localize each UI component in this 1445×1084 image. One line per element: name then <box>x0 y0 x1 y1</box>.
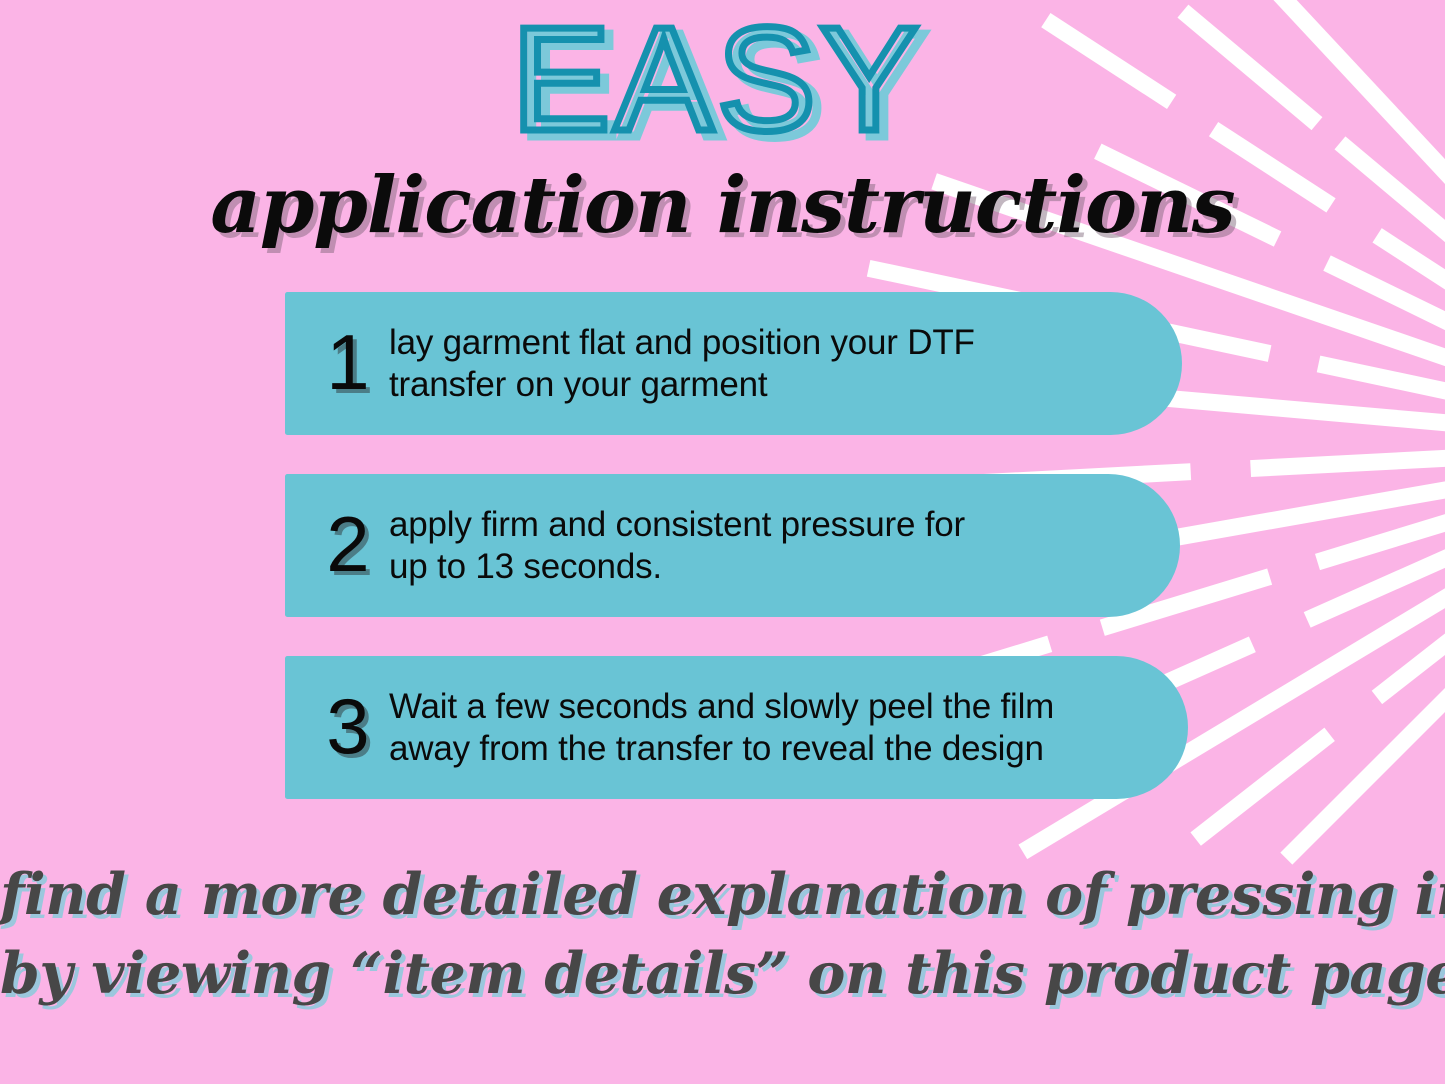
step-number-2: 2 <box>307 505 389 583</box>
step-bar-1: 1 lay garment flat and position your DTF… <box>285 292 1182 435</box>
step-bar-2: 2 apply firm and consistent pressure for… <box>285 474 1180 617</box>
footer-line-1: find a more detailed explanation of pres… <box>0 856 1445 935</box>
headline-easy-outline: EASY <box>511 0 922 162</box>
sunburst-ray-segment <box>1251 458 1445 468</box>
sunburst-ray-segment <box>1286 625 1445 858</box>
step-text-2: apply firm and consistent pressure for u… <box>389 504 1180 587</box>
step-number-1: 1 <box>307 323 389 401</box>
sunburst-ray-segment <box>1196 734 1330 839</box>
step-text-3-line-2: away from the transfer to reveal the des… <box>389 728 1154 769</box>
sunburst-ray-segment <box>1319 364 1445 393</box>
headline-easy: EASY EASY <box>0 14 1445 169</box>
step-text-2-line-2: up to 13 seconds. <box>389 546 1146 587</box>
footer-line-2: by viewing “item details” on this produc… <box>0 935 1445 1014</box>
poster-canvas: EASY EASY application instructions 1 lay… <box>0 0 1445 1084</box>
sunburst-ray-segment <box>1317 518 1445 562</box>
sunburst-ray-segment <box>1307 547 1445 620</box>
step-text-2-line-1: apply firm and consistent pressure for <box>389 504 1146 545</box>
step-bar-3: 3 Wait a few seconds and slowly peel the… <box>285 656 1188 799</box>
sunburst-ray-segment <box>1377 605 1445 697</box>
step-text-1: lay garment flat and position your DTF t… <box>389 322 1182 405</box>
step-text-3-line-1: Wait a few seconds and slowly peel the f… <box>389 686 1154 727</box>
footer-note: find a more detailed explanation of pres… <box>0 856 1445 1013</box>
subtitle-application-instructions: application instructions <box>0 160 1445 251</box>
step-text-3: Wait a few seconds and slowly peel the f… <box>389 686 1188 769</box>
step-number-3: 3 <box>307 687 389 765</box>
step-text-1-line-2: transfer on your garment <box>389 364 1148 405</box>
step-text-1-line-1: lay garment flat and position your DTF <box>389 322 1148 363</box>
sunburst-ray-segment <box>1327 263 1445 335</box>
